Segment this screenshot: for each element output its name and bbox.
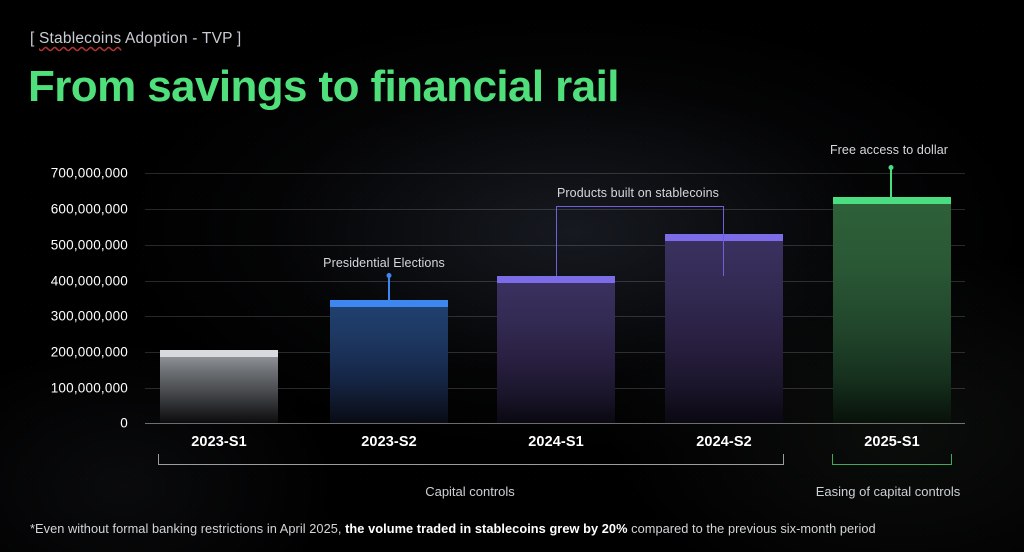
bar-2025-S1[interactable]: [833, 197, 951, 423]
bar-body-2025-S1: [833, 204, 951, 423]
bar-cap-2024-S1: [497, 276, 615, 283]
y-axis-label-600m: 600,000,000: [8, 202, 128, 217]
bar-chart: 700,000,000 600,000,000 500,000,000 400,…: [0, 0, 1024, 552]
slide-root: [ Stablecoins Adoption - TVP ] From savi…: [0, 0, 1024, 552]
bar-body-2023-S2: [330, 307, 448, 423]
annotation-free-access-dot: [888, 165, 893, 170]
y-axis-label-100m: 100,000,000: [8, 381, 128, 396]
annotation-products-built-label: Products built on stablecoins: [557, 186, 719, 200]
x-axis-label-2023-S1: 2023-S1: [191, 434, 247, 450]
annotation-free-access-label: Free access to dollar: [830, 143, 948, 157]
x-axis-label-2025-S1: 2025-S1: [864, 434, 920, 450]
bar-2024-S1[interactable]: [497, 276, 615, 423]
x-axis-baseline: [145, 423, 965, 424]
annotation-presidential-elections-stem: [388, 276, 390, 300]
bar-cap-2023-S1: [160, 350, 278, 357]
gridline-700m: [145, 173, 965, 174]
annotation-presidential-elections-dot: [386, 273, 391, 278]
bar-body-2024-S1: [497, 283, 615, 423]
bar-cap-2025-S1: [833, 197, 951, 204]
y-axis-label-400m: 400,000,000: [8, 274, 128, 289]
x-axis-label-2023-S2: 2023-S2: [361, 434, 417, 450]
bar-cap-2023-S2: [330, 300, 448, 307]
footnote-tail: compared to the previous six-month perio…: [628, 521, 876, 536]
y-axis-label-700m: 700,000,000: [8, 166, 128, 181]
group-bracket-easing-capital-controls: [832, 454, 952, 465]
group-bracket-capital-controls: [158, 454, 784, 465]
x-axis-label-2024-S1: 2024-S1: [528, 434, 584, 450]
y-axis-label-300m: 300,000,000: [8, 309, 128, 324]
y-axis-label-0: 0: [8, 416, 128, 431]
footnote: *Even without formal banking restriction…: [30, 521, 876, 536]
footnote-bold: the volume traded in stablecoins grew by…: [345, 521, 627, 536]
bar-2023-S1[interactable]: [160, 350, 278, 423]
footnote-lead: *Even without formal banking restriction…: [30, 521, 345, 536]
group-label-capital-controls: Capital controls: [425, 484, 515, 499]
group-label-easing-capital-controls: Easing of capital controls: [816, 484, 961, 499]
bar-body-2023-S1: [160, 357, 278, 423]
y-axis-label-200m: 200,000,000: [8, 345, 128, 360]
x-axis-label-2024-S2: 2024-S2: [696, 434, 752, 450]
annotation-free-access-stem: [890, 168, 892, 198]
y-axis-label-500m: 500,000,000: [8, 238, 128, 253]
bar-2023-S2[interactable]: [330, 300, 448, 423]
annotation-products-built-bracket: [556, 206, 724, 276]
annotation-presidential-elections-label: Presidential Elections: [323, 256, 445, 270]
